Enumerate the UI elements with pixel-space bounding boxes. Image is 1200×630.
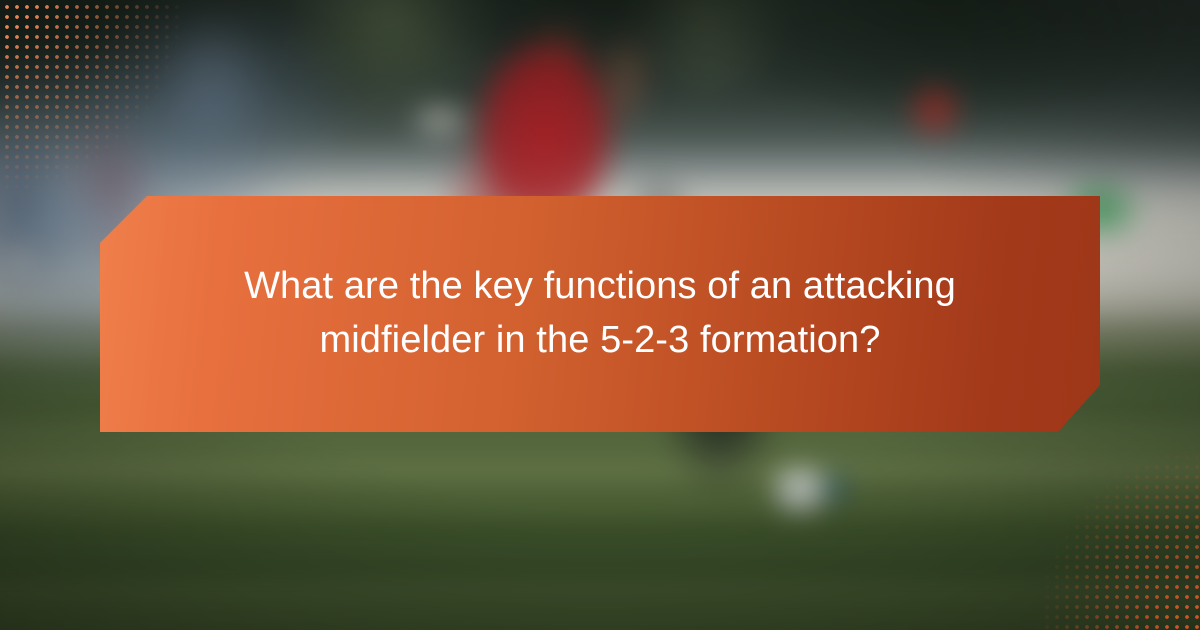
question-banner: What are the key functions of an attacki… xyxy=(100,196,1100,432)
social-card: What are the key functions of an attacki… xyxy=(0,0,1200,630)
question-title: What are the key functions of an attacki… xyxy=(170,260,1030,368)
dot-grid-bottom-right-icon xyxy=(1000,400,1200,630)
